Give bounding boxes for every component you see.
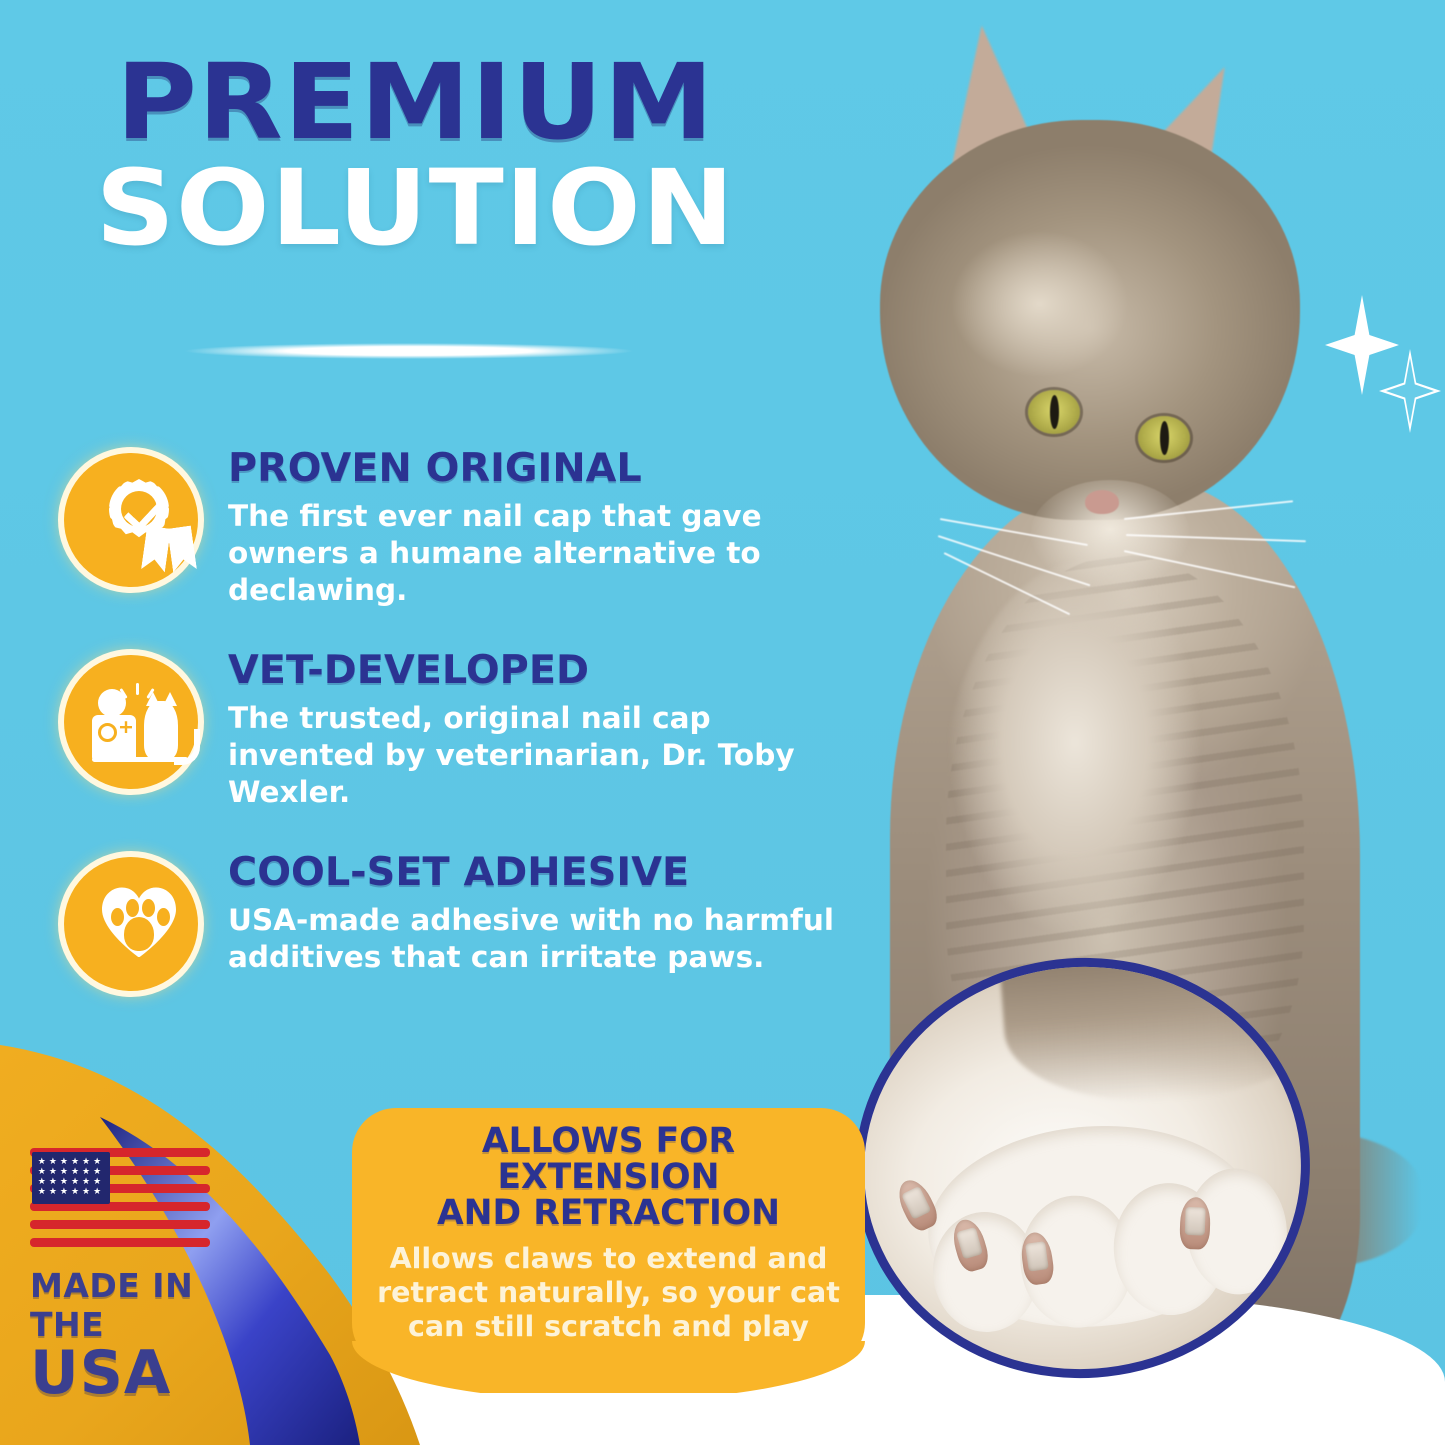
cat-eye-left xyxy=(1028,390,1080,434)
callout-body: Allows claws to extend and retract natur… xyxy=(372,1242,845,1379)
paw-fur-top xyxy=(999,943,1324,1112)
title-line-premium: PREMIUM xyxy=(0,55,845,151)
icon-badge-circle xyxy=(64,857,198,991)
feature-heading: VET-DEVELOPED xyxy=(228,651,848,691)
feature-item-proven-original: PROVEN ORIGINAL The first ever nail cap … xyxy=(56,445,836,609)
american-flag-icon: ★★★★★★ ★★★★★★ ★★★★★★ ★★★★★★ xyxy=(30,1148,210,1256)
cat-nose xyxy=(1085,490,1119,514)
feature-body: The trusted, original nail cap invented … xyxy=(228,700,836,811)
feature-text-block: VET-DEVELOPED The trusted, original nail… xyxy=(228,647,836,811)
heart-paw-shape xyxy=(102,887,176,957)
nail-cap-on-claw xyxy=(1179,1197,1211,1250)
feature-item-vet-developed: VET-DEVELOPED The trusted, original nail… xyxy=(56,647,836,811)
icon-badge-circle xyxy=(64,453,198,587)
award-ribbon-check-icon xyxy=(56,445,206,595)
usa-label: USA xyxy=(30,1344,260,1403)
feature-heading: PROVEN ORIGINAL xyxy=(228,449,848,489)
callout-heading-line1: ALLOWS FOR EXTENSION xyxy=(372,1124,845,1196)
title-underline-swoosh xyxy=(185,343,633,359)
heart-paw-icon xyxy=(56,849,206,999)
cat-eye-right xyxy=(1138,416,1190,460)
feature-body: USA-made adhesive with no harmful additi… xyxy=(228,902,836,976)
callout-heading: ALLOWS FOR EXTENSION AND RETRACTION xyxy=(372,1124,845,1232)
vet-high-five-cat-icon xyxy=(56,647,206,797)
cat-silhouette xyxy=(144,701,178,759)
feature-item-cool-set-adhesive: COOL-SET ADHESIVE USA-made adhesive with… xyxy=(56,849,836,999)
feature-body: The first ever nail cap that gave owners… xyxy=(228,498,836,609)
feature-text-block: PROVEN ORIGINAL The first ever nail cap … xyxy=(228,445,836,609)
feature-text-block: COOL-SET ADHESIVE USA-made adhesive with… xyxy=(228,849,836,976)
feature-heading: COOL-SET ADHESIVE xyxy=(228,853,848,893)
cat-head xyxy=(880,120,1300,520)
icon-badge-circle xyxy=(64,655,198,789)
sparkle-line xyxy=(136,683,139,695)
page-title: PREMIUM SOLUTION xyxy=(0,55,820,257)
rosette-shape xyxy=(102,479,176,535)
vet-and-cat-shape xyxy=(92,683,188,763)
title-line-solution: SOLUTION xyxy=(0,159,845,258)
callout-heading-line2: AND RETRACTION xyxy=(372,1196,845,1232)
feature-list: PROVEN ORIGINAL The first ever nail cap … xyxy=(56,445,836,1037)
ribbon-tail-right xyxy=(167,526,197,573)
made-in-the-label: MADE IN THE xyxy=(30,1266,260,1344)
ground-line xyxy=(92,757,188,762)
extension-retraction-callout: ALLOWS FOR EXTENSION AND RETRACTION Allo… xyxy=(352,1108,865,1367)
infographic-canvas: PREMIUM SOLUTION PROVEN ORIGINAL The fir… xyxy=(0,0,1445,1445)
ribbon-tail-left xyxy=(141,526,171,573)
made-in-usa-badge: ★★★★★★ ★★★★★★ ★★★★★★ ★★★★★★ MADE IN THE … xyxy=(30,1148,260,1403)
flag-canton: ★★★★★★ ★★★★★★ ★★★★★★ ★★★★★★ xyxy=(32,1152,110,1204)
paw-main-pad xyxy=(124,917,154,951)
